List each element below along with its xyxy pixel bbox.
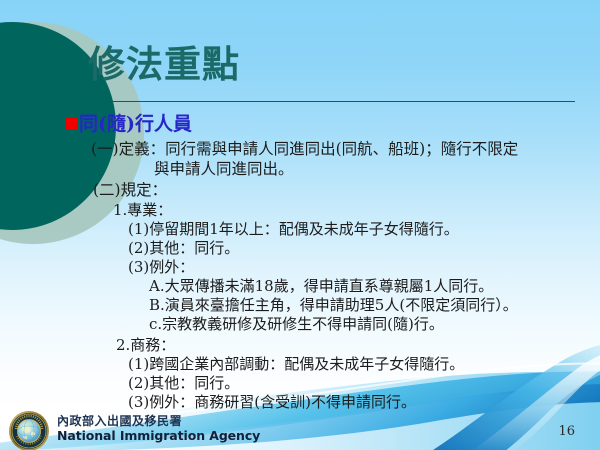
list-item: 1.專業： [113,201,586,220]
list-item: c.宗教教義研修及研修生不得申請同(隨)行。 [149,315,586,334]
list-item: (3)例外：商務研習(含受訓)不得申請同行。 [128,393,586,412]
footer-agency-name: 內政部入出國及移民署 National Immigration Agency [57,414,260,443]
list-item: (2)其他：同行。 [128,239,586,258]
title-divider [88,101,575,102]
footer-agency-en: National Immigration Agency [57,429,260,443]
section-heading-label: 同(隨)行人員 [79,112,192,136]
list-item: (1)跨國企業內部調動：配偶及未成年子女得隨行。 [128,355,586,374]
list-item: B.演員來臺擔任主角，得申請助理5人(不限定須同行）。 [149,296,586,315]
page-title: 修法重點 [88,42,240,86]
list-item: 與申請人同進同出。 [154,159,586,179]
list-item: (1)停留期間1年以上：配偶及未成年子女得隨行。 [128,220,586,239]
list-item: (一)定義：同行需與申請人同進同出(同航、船班)；隨行不限定 [91,139,586,159]
list-item: (3)例外： [128,258,586,277]
footer-agency-zh: 內政部入出國及移民署 [57,414,260,428]
list-item: (二)規定： [93,180,586,200]
square-bullet-icon [66,118,77,129]
page-number: 16 [558,424,575,439]
slide-body: 同(隨)行人員 (一)定義：同行需與申請人同進同出(同航、船班)；隨行不限定 與… [66,112,586,412]
list-item: (2)其他：同行。 [128,374,586,393]
nia-emblem-icon [8,410,50,450]
list-item: 2.商務： [116,336,586,355]
slide: 修法重點 同(隨)行人員 (一)定義：同行需與申請人同進同出(同航、船班)；隨行… [0,0,600,450]
section-heading: 同(隨)行人員 [66,112,586,136]
list-item: A.大眾傳播未滿18歲，得申請直系尊親屬1人同行。 [149,277,586,296]
